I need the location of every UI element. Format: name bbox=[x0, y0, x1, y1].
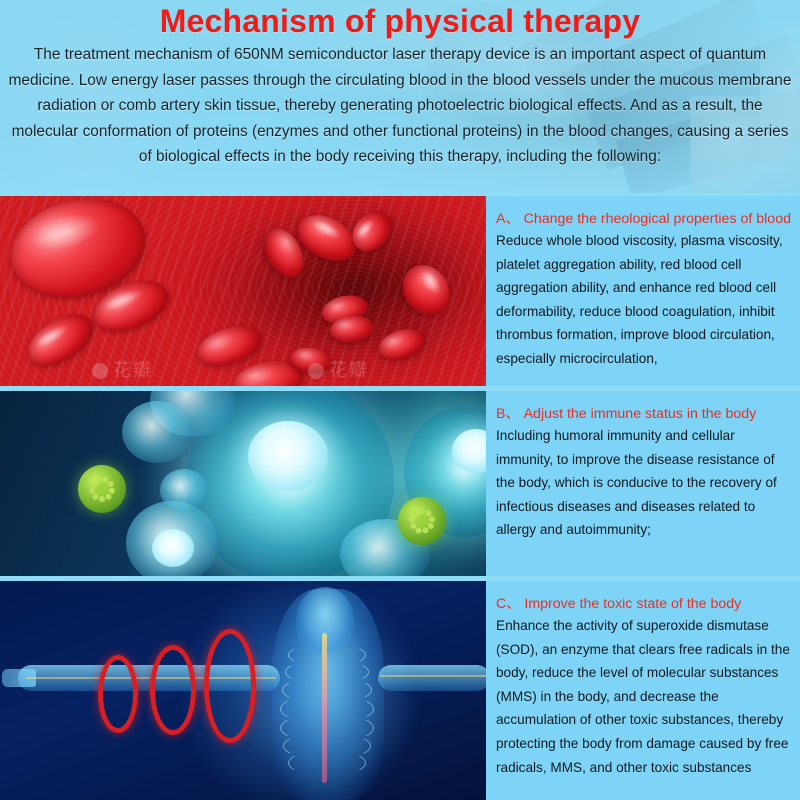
watermark: 花瓣 bbox=[308, 356, 369, 382]
section-b-heading: B、 Adjust the immune status in the body bbox=[496, 403, 792, 423]
immune-cells-image bbox=[0, 391, 486, 576]
laser-energy-ring bbox=[98, 655, 138, 733]
watermark: 花瓣 bbox=[92, 356, 153, 382]
section-c-heading: C、 Improve the toxic state of the body bbox=[496, 593, 792, 613]
intro-paragraph: The treatment mechanism of 650NM semicon… bbox=[8, 42, 792, 170]
white-blood-cell bbox=[160, 469, 208, 511]
rib bbox=[288, 750, 366, 776]
infographic-page: Mechanism of physical therapy The treatm… bbox=[0, 0, 800, 800]
section-row-a: 花瓣 花瓣 A、 Change the rheological properti… bbox=[0, 196, 800, 386]
virus-particle bbox=[78, 465, 126, 513]
right-arm bbox=[378, 665, 486, 691]
arm-nerve bbox=[380, 675, 486, 677]
virus-particle bbox=[398, 497, 446, 545]
section-a-body: Reduce whole blood viscosity, plasma vis… bbox=[496, 229, 792, 371]
section-b-text-panel: B、 Adjust the immune status in the body … bbox=[486, 391, 800, 576]
section-row-c: C、 Improve the toxic state of the body E… bbox=[0, 581, 800, 800]
white-blood-cell bbox=[122, 401, 192, 463]
section-a-heading: A、 Change the rheological properties of … bbox=[496, 208, 792, 228]
section-c-body: Enhance the activity of superoxide dismu… bbox=[496, 614, 792, 779]
section-c-text-panel: C、 Improve the toxic state of the body E… bbox=[486, 581, 800, 800]
section-a-text-panel: A、 Change the rheological properties of … bbox=[486, 196, 800, 386]
section-b-body: Including humoral immunity and cellular … bbox=[496, 424, 792, 542]
cell-nucleus bbox=[248, 421, 328, 491]
laser-energy-ring bbox=[150, 645, 196, 735]
cell-nucleus bbox=[152, 529, 194, 567]
body-scan-image bbox=[0, 581, 486, 800]
header-banner: Mechanism of physical therapy The treatm… bbox=[0, 0, 800, 193]
blood-cells-image: 花瓣 花瓣 bbox=[0, 196, 486, 386]
page-title: Mechanism of physical therapy bbox=[0, 3, 800, 40]
laser-energy-ring bbox=[204, 629, 256, 743]
section-row-b: B、 Adjust the immune status in the body … bbox=[0, 391, 800, 576]
